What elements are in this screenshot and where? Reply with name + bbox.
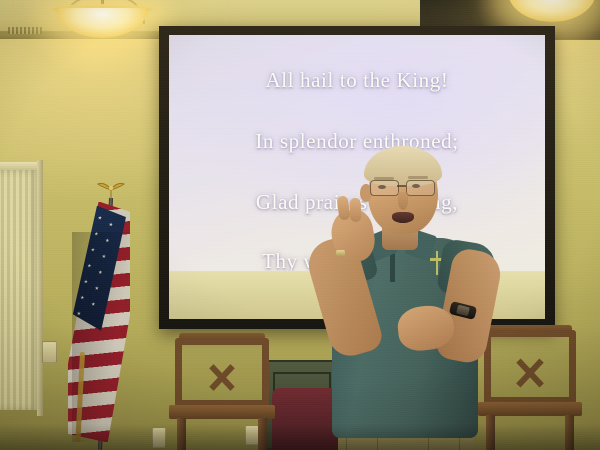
nose [398,192,408,210]
glasses-bridge [397,185,406,187]
lens-left [370,180,399,196]
ceiling-vent [8,27,42,34]
finger [336,195,350,220]
photo-scene: All hail to the King! In splendor enthro… [0,0,600,450]
ring [336,250,345,256]
chair-back-frame [175,338,269,407]
gold-eagle-finial [96,178,126,200]
lamp-bowl [56,8,148,38]
american-flag [62,176,182,450]
light-switch-plate[interactable] [42,341,57,363]
eyebrow-right [408,176,428,179]
finger [350,198,362,222]
flag-cloth [68,202,130,442]
lamp-bowl [508,0,596,22]
lens-right [406,180,435,196]
vertical-blinds [0,170,38,410]
slide-line-1: All hail to the King! [169,68,545,93]
floor-shadow [0,424,600,450]
presenter [316,146,502,450]
pendant-light-left [56,0,148,54]
mouth [392,212,414,223]
window-frame-edge [37,160,43,416]
